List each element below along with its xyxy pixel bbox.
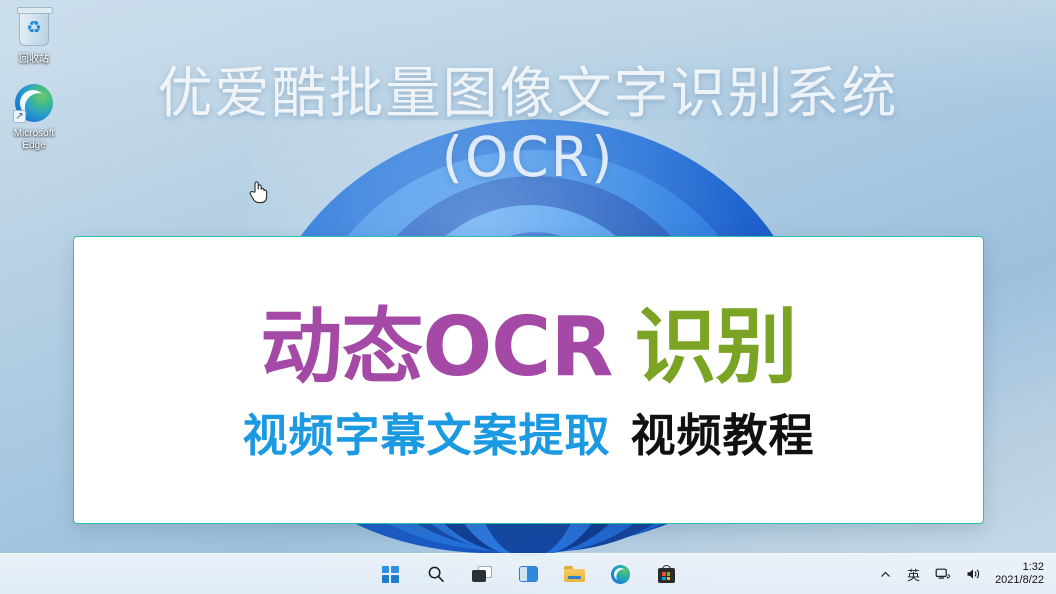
tray-overflow-button[interactable] — [877, 560, 894, 588]
volume-icon — [966, 567, 982, 581]
taskbar-edge-button[interactable] — [606, 560, 634, 588]
desktop-title: 优爱酷批量图像文字识别系统 (OCR) — [0, 62, 1056, 190]
microsoft-store-icon — [658, 565, 675, 583]
desktop-title-line1: 优爱酷批量图像文字识别系统 — [157, 61, 898, 125]
desktop-title-line2: (OCR) — [0, 124, 1056, 190]
headline-accent: 识别 — [635, 300, 797, 395]
widgets-icon — [519, 566, 538, 582]
taskbar-microsoft-store-button[interactable] — [652, 560, 680, 588]
chevron-up-icon — [879, 568, 892, 581]
headline-primary: 动态OCR — [260, 300, 612, 395]
system-tray: 英 1:32 2021/8/22 — [877, 554, 1050, 594]
card-subline: 视频字幕文案提取视频教程 — [242, 408, 814, 464]
tray-ime-indicator[interactable]: 英 — [905, 560, 922, 588]
network-icon — [935, 567, 951, 581]
taskbar-file-explorer-button[interactable] — [560, 560, 588, 588]
card-headline: 动态OCR识别 — [260, 302, 796, 394]
clock-time: 1:32 — [995, 561, 1044, 574]
search-icon — [427, 565, 445, 583]
windows-start-icon — [382, 566, 399, 583]
promo-card: 动态OCR识别 视频字幕文案提取视频教程 — [73, 236, 984, 524]
taskbar-widgets-button[interactable] — [514, 560, 542, 588]
task-view-icon — [472, 566, 492, 582]
taskbar-start-button[interactable] — [376, 560, 404, 588]
clock-date: 2021/8/22 — [995, 574, 1044, 587]
taskbar: 英 1:32 2021/8/22 — [0, 553, 1056, 594]
recycle-bin-icon: ♻ — [13, 10, 55, 52]
tray-volume-button[interactable] — [964, 560, 984, 588]
desktop-screen: ♻ 回收站 ↗ Microsoft Edge 优爱酷批量图像文字识别系统 (OC… — [0, 0, 1056, 594]
subline-secondary: 视频教程 — [631, 409, 815, 462]
taskbar-search-button[interactable] — [422, 560, 450, 588]
mouse-cursor-hand-icon — [248, 178, 268, 204]
taskbar-clock[interactable]: 1:32 2021/8/22 — [995, 561, 1050, 587]
desktop-icon-recycle-bin[interactable]: ♻ 回收站 — [0, 8, 70, 66]
tray-network-button[interactable] — [933, 560, 953, 588]
edge-icon — [611, 565, 630, 584]
file-explorer-icon — [564, 566, 585, 582]
subline-primary: 视频字幕文案提取 — [242, 409, 610, 462]
taskbar-task-view-button[interactable] — [468, 560, 496, 588]
